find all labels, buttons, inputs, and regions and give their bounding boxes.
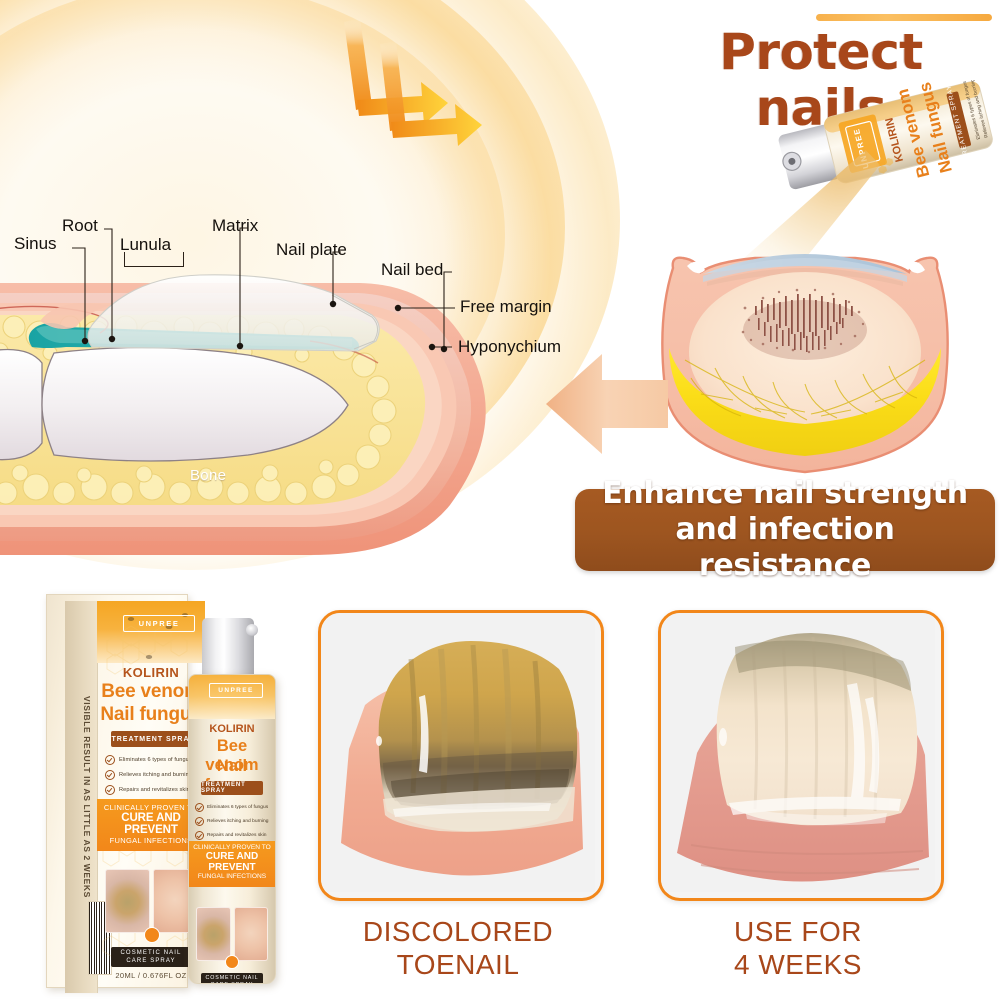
bullet-text: Repairs and revitalizes skin [207, 833, 267, 838]
bottle-cap [202, 618, 254, 678]
caption-before: DISCOLORED TOENAIL [318, 915, 598, 981]
bullet-text: Eliminates 6 types of fungus [207, 805, 268, 810]
bullet-text: Relieves itching and burning [207, 819, 268, 824]
check-icon [105, 770, 115, 780]
bottle-type-badge: TREATMENT SPRAY [201, 781, 263, 795]
nail-anatomy-diagram [0, 255, 540, 575]
spray-bottle-front: UNPREE KOLIRIN Bee venom Nail fungus TRE… [178, 618, 286, 982]
bottle-claim-block: CLINICALLY PROVEN TO CURE AND PREVENT FU… [189, 841, 275, 887]
footer-line-2: CARE SPRAY [126, 957, 175, 965]
bottle-nozzle-icon [246, 624, 258, 636]
label-free-margin: Free margin [460, 297, 552, 317]
lunula-bracket [124, 252, 184, 267]
bottle-before-after-photos [196, 907, 268, 959]
label-root: Root [62, 216, 98, 236]
bottle-brand-name: UNPREE [218, 687, 254, 694]
caption-after-line-1: USE FOR [734, 916, 862, 947]
footer-line-1: COSMETIC NAIL [121, 949, 182, 957]
bottle-transition-arrow-icon [225, 955, 239, 969]
benefit-line-2: and infection resistance [675, 512, 894, 583]
bottle-brand-box: UNPREE [209, 683, 263, 698]
bullet-item: Relieves itching and burning [195, 817, 273, 826]
toe-cross-section-diagram [645, 248, 965, 483]
product-carton: VISIBLE RESULT IN AS LITTLE AS 2 WEEKS [46, 594, 188, 988]
footer-line-2: CARE SPRAY [211, 982, 254, 985]
check-icon [105, 755, 115, 765]
check-icon [195, 803, 204, 812]
check-icon [195, 817, 204, 826]
bottle-sub-brand: KOLIRIN [189, 723, 275, 735]
carton-side-panel: VISIBLE RESULT IN AS LITTLE AS 2 WEEKS [65, 601, 98, 993]
headline-accent-rule [816, 14, 992, 21]
claim-line-1: CLINICALLY PROVEN TO [189, 844, 275, 851]
label-nail-bed: Nail bed [381, 260, 443, 280]
label-matrix: Matrix [212, 216, 258, 236]
bullet-item: Eliminates 6 types of fungus [195, 803, 273, 812]
bottle-photo-before [196, 907, 231, 961]
product-shot: VISIBLE RESULT IN AS LITTLE AS 2 WEEKS [28, 588, 298, 994]
spray-bottle-tilted: UNPREE KOLIRIN Bee venom Nail fungus TRE… [770, 80, 1000, 220]
bullet-item: Repairs and revitalizes skin [195, 831, 273, 840]
label-sinus: Sinus [14, 234, 57, 254]
bottle-type-label: TREATMENT SPRAY [201, 782, 263, 794]
benefit-banner-text: Enhance nail strength and infection resi… [575, 476, 995, 584]
footer-line-1: COSMETIC NAIL [206, 975, 259, 982]
bottle-footer-badge: COSMETIC NAIL CARE SPRAY [201, 973, 263, 984]
benefit-line-1: Enhance nail strength [602, 476, 968, 511]
brand-name: UNPREE [139, 619, 180, 628]
claim-line-2: CURE AND PREVENT [189, 851, 275, 873]
caption-before-line-1: DISCOLORED [363, 916, 553, 947]
photo-card-after [658, 610, 944, 901]
infographic-canvas: Sinus Root Lunula Matrix Nail plate Nail… [0, 0, 1000, 1000]
label-nail-plate: Nail plate [276, 240, 347, 260]
caption-after-line-2: 4 WEEKS [734, 949, 862, 980]
flow-arrow-left-icon [540, 348, 675, 460]
carton-photo-before [105, 869, 150, 933]
deflected-arrows-icon [330, 0, 520, 150]
caption-before-line-2: TOENAIL [397, 949, 520, 980]
claim-line-3: FUNGAL INFECTIONS [189, 873, 275, 880]
bottle-photo-after [234, 907, 269, 961]
caption-after: USE FOR 4 WEEKS [658, 915, 938, 981]
bottle-bullet-list: Eliminates 6 types of fungus Relieves it… [195, 803, 273, 845]
bottle-body: UNPREE KOLIRIN Bee venom Nail fungus TRE… [188, 674, 276, 984]
check-icon [105, 785, 115, 795]
carton-transition-arrow-icon [144, 927, 160, 943]
photo-card-before [318, 610, 604, 901]
label-bone: Bone [190, 467, 226, 484]
carton-side-text: VISIBLE RESULT IN AS LITTLE AS 2 WEEKS [82, 696, 92, 816]
benefit-banner: Enhance nail strength and infection resi… [575, 489, 995, 571]
check-icon [195, 831, 204, 840]
